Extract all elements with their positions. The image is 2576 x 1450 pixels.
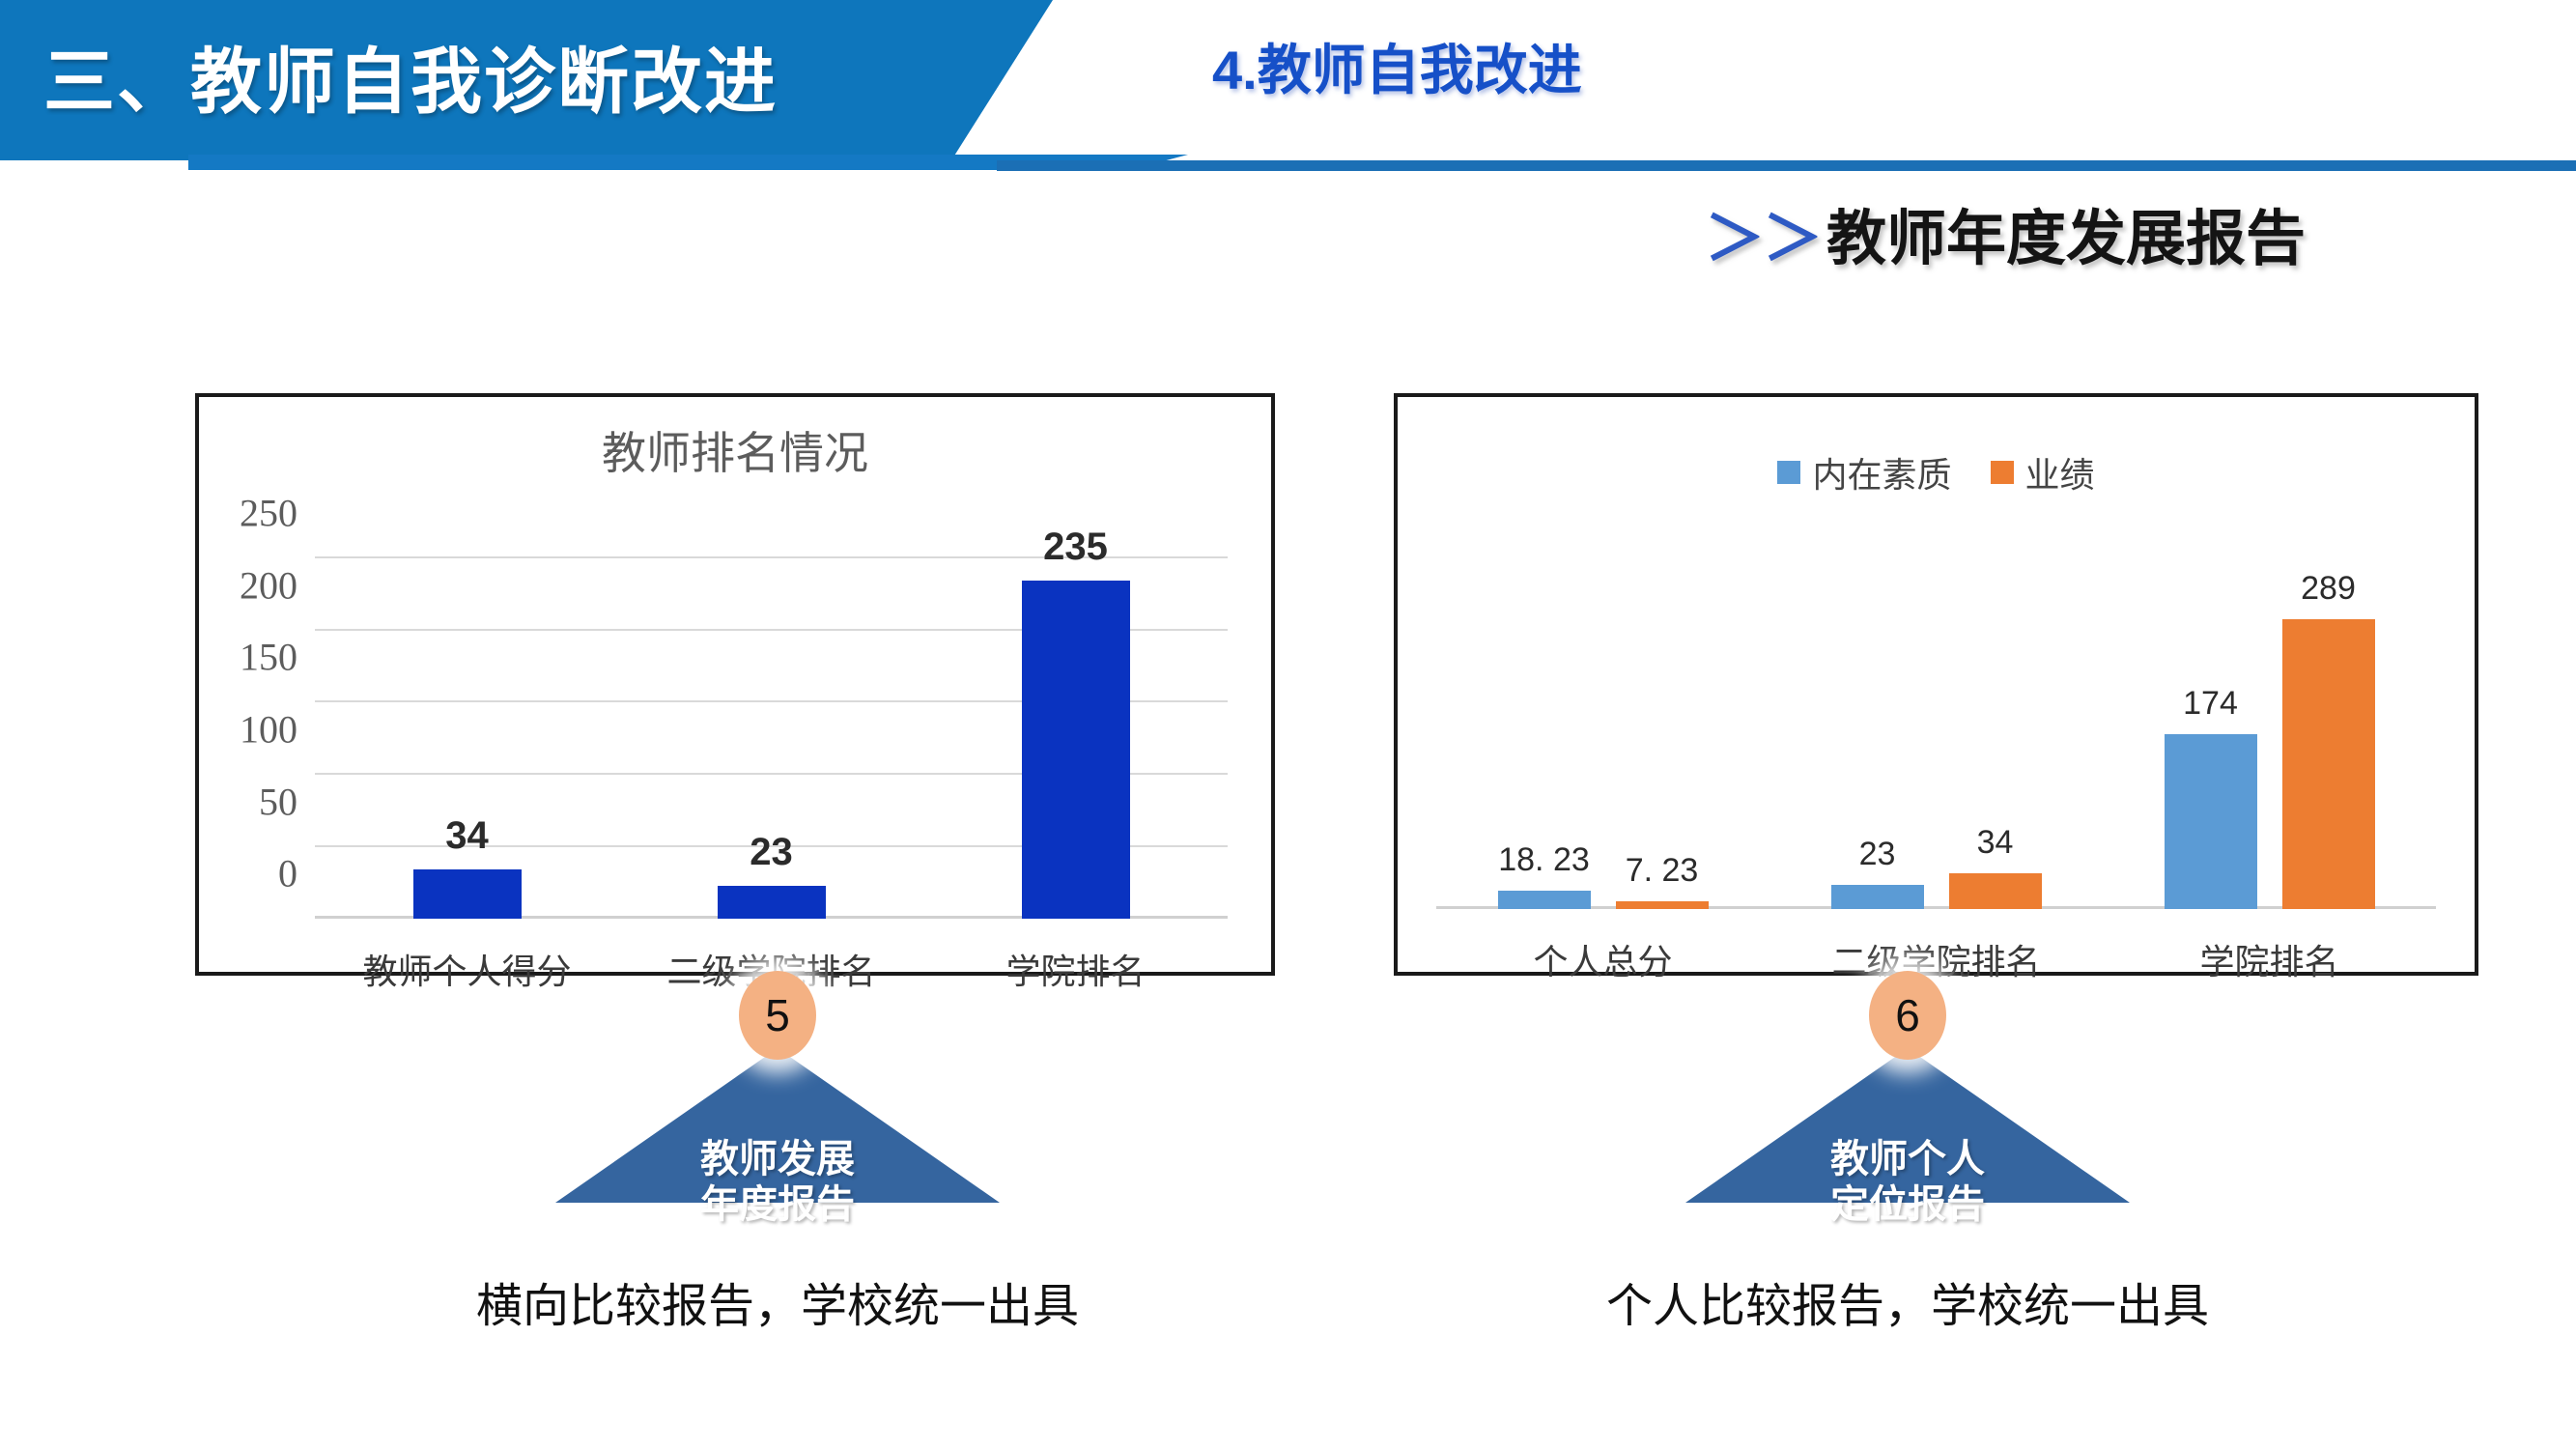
bar-group-college-rank: 235 学院排名 — [923, 537, 1228, 919]
bar-teacher-score[interactable]: 34 — [413, 869, 522, 919]
chart-right-plot-area: 18. 23 7. 23 个人总分 23 34 二级学院排名 — [1436, 590, 2436, 909]
report-subtitle-text: 教师年度发展报告 — [1826, 206, 2306, 272]
bar-group-personal-total: 18. 23 7. 23 个人总分 — [1436, 590, 1769, 909]
chart-teacher-ranking: 教师排名情况 0 50 100 150 200 250 34 教师个人得分 — [195, 393, 1275, 976]
bar-value-label: 174 — [2183, 685, 2238, 723]
category-label: 教师个人得分 — [362, 944, 571, 994]
bar-value-label: 235 — [1043, 526, 1108, 569]
legend-label: 内在素质 — [1812, 447, 1951, 498]
bar-value-label: 23 — [1859, 836, 1896, 873]
category-label: 个人总分 — [1533, 934, 1672, 984]
legend-label: 业绩 — [2025, 447, 2095, 498]
bar-value-label: 23 — [750, 831, 793, 874]
bar-inner-quality-secondary-rank[interactable]: 23 — [1831, 885, 1924, 909]
bar-performance-college-rank[interactable]: 289 — [2282, 619, 2375, 909]
ytick-50: 50 — [259, 779, 297, 824]
header-rule — [997, 160, 2576, 171]
bar-group-college-rank: 174 289 学院排名 — [2103, 590, 2436, 909]
bar-college-rank[interactable]: 235 — [1022, 581, 1130, 919]
caption-right: 个人比较报告，学校统一出具 — [1473, 1267, 2342, 1335]
bar-value-label: 34 — [1977, 824, 2014, 862]
header-rule-left-segment — [997, 160, 1209, 171]
section-title: 三、教师自我诊断改进 — [43, 17, 971, 133]
ytick-100: 100 — [240, 707, 297, 753]
bar-value-label: 34 — [445, 814, 489, 858]
ytick-0: 0 — [278, 851, 297, 896]
pyramid-label-line1: 教师发展 — [555, 1137, 1000, 1182]
report-subtitle: ＞＞教师年度发展报告 — [1705, 189, 2306, 276]
bar-performance-secondary-rank[interactable]: 34 — [1949, 873, 2042, 909]
legend-swatch-icon — [1777, 461, 1800, 484]
chart-left-title: 教师排名情况 — [199, 418, 1271, 482]
bar-performance-personal-total[interactable]: 7. 23 — [1616, 901, 1709, 909]
ytick-150: 150 — [240, 635, 297, 680]
page-title: 4.教师自我改进 — [1212, 27, 1582, 105]
pyramid-label-line1: 教师个人 — [1685, 1137, 2130, 1182]
bar-value-label: 289 — [2301, 570, 2356, 608]
ytick-200: 200 — [240, 563, 297, 609]
step-badge: 6 — [1869, 971, 1946, 1060]
bar-secondary-college-rank[interactable]: 23 — [718, 886, 826, 919]
category-label: 二级学院排名 — [1831, 934, 2040, 984]
category-label: 学院排名 — [1005, 944, 1145, 994]
chart-quality-vs-performance: 内在素质 业绩 18. 23 7. 23 个人总分 — [1394, 393, 2478, 976]
legend-swatch-icon — [1991, 461, 2014, 484]
chevron-right-icon: ＞＞ — [1705, 206, 1821, 272]
pyramid-label-line2: 定位报告 — [1685, 1182, 2130, 1228]
pyramid-label: 教师发展 年度报告 — [555, 1137, 1000, 1228]
pyramid-label: 教师个人 定位报告 — [1685, 1137, 2130, 1228]
bar-group-secondary-college-rank: 23 二级学院排名 — [619, 537, 923, 919]
legend-item-performance[interactable]: 业绩 — [1991, 447, 2095, 498]
slide-canvas: 三、教师自我诊断改进 4.教师自我改进 ＞＞教师年度发展报告 教师排名情况 0 … — [0, 0, 2576, 1450]
ytick-250: 250 — [240, 491, 297, 536]
bar-inner-quality-college-rank[interactable]: 174 — [2165, 734, 2257, 909]
bar-value-label: 7. 23 — [1626, 852, 1699, 890]
category-label: 学院排名 — [2199, 934, 2338, 984]
legend-item-inner-quality[interactable]: 内在素质 — [1777, 447, 1951, 498]
chart-right-legend: 内在素质 业绩 — [1398, 447, 2475, 498]
bar-group-secondary-college-rank: 23 34 二级学院排名 — [1769, 590, 2103, 909]
bar-group-teacher-score: 34 教师个人得分 — [315, 537, 619, 919]
pyramid-label-line2: 年度报告 — [555, 1182, 1000, 1228]
chart-left-plot-area: 0 50 100 150 200 250 34 教师个人得分 23 二级学院排名 — [315, 537, 1228, 919]
bar-inner-quality-personal-total[interactable]: 18. 23 — [1498, 891, 1591, 909]
bar-value-label: 18. 23 — [1498, 841, 1590, 879]
step-badge: 5 — [739, 971, 816, 1060]
caption-left: 横向比较报告，学校统一出具 — [343, 1267, 1212, 1335]
